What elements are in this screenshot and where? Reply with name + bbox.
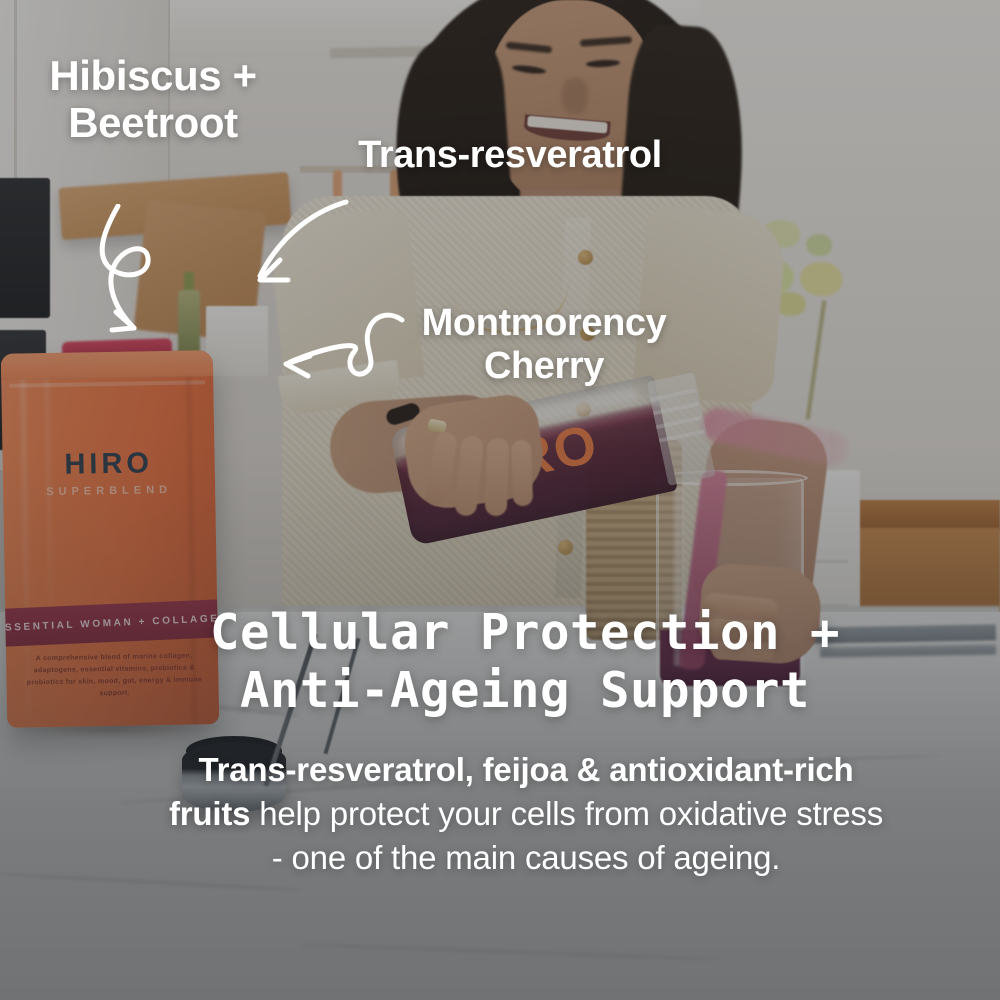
promo-image: HIRO SUPERBLEND ESSENTIAL WOMAN + COLLAG…	[0, 0, 1000, 1000]
annotation-label-hibiscus: Hibiscus + Beetroot	[18, 52, 288, 146]
body-copy-rest: help protect your cells from oxidative s…	[250, 795, 883, 876]
headline-line-2: Anti-Ageing Support	[130, 662, 920, 720]
curved-arrow-down-left-icon	[232, 188, 356, 304]
annotation-label-trans-resveratrol: Trans-resveratrol	[300, 134, 720, 177]
curly-loop-arrow-down-right-icon	[88, 204, 218, 344]
headline-line-1: Cellular Protection +	[210, 604, 840, 661]
body-copy: Trans-resveratrol, feijoa & antioxidant-…	[166, 748, 886, 880]
curly-loop-arrow-left-icon	[268, 306, 408, 402]
page-title: Cellular Protection + Anti-Ageing Suppor…	[130, 604, 920, 720]
annotation-label-montmorency-cherry: Montmorency Cherry	[384, 302, 704, 387]
